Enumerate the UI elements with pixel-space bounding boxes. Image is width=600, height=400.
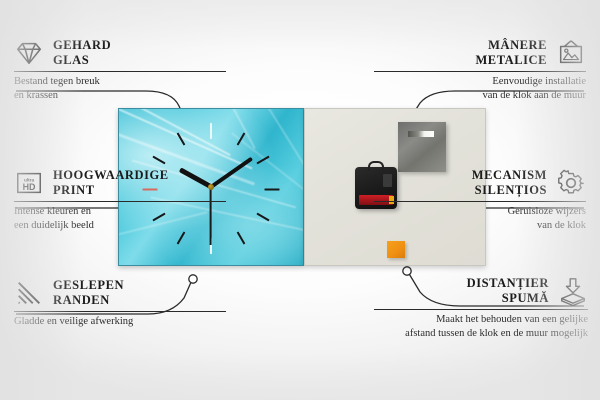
tick-1 <box>237 132 246 145</box>
tick-4 <box>256 213 269 222</box>
feature-description: Maakt het behouden van een gelijke afsta… <box>374 310 588 340</box>
feature-header: GESLEPEN RANDEN <box>14 278 226 310</box>
svg-text:HD: HD <box>23 182 36 192</box>
diamond-icon <box>14 38 44 68</box>
feature-description: Intense kleuren en een duidelijk beeld <box>14 202 226 232</box>
feature-title: MECANISM SILENȚIOS <box>472 168 547 198</box>
feature-header: GEHARD GLAS <box>14 38 226 70</box>
hanger-plate <box>398 122 446 172</box>
feature-title-line2: GLAS <box>53 53 111 68</box>
feature-description: Eenvoudige installatie van de klok aan d… <box>374 72 586 102</box>
feature-title-line1: GESLEPEN <box>53 278 124 293</box>
feature-title-line2: METALICE <box>475 53 547 68</box>
tick-11 <box>177 132 186 145</box>
tick-5 <box>237 231 246 244</box>
feature-title-line2: SPUMĂ <box>467 291 549 306</box>
feature-description: Bestand tegen breuk en krassen <box>14 72 226 102</box>
tick-12 <box>210 123 212 139</box>
product-infographic: GEHARD GLAS Bestand tegen breuk en krass… <box>0 0 600 400</box>
feature-title-line1: MÂNERE <box>475 38 547 53</box>
feature-geslepen-randen: GESLEPEN RANDEN Gladde en veilige afwerk… <box>14 278 226 329</box>
feature-title: GEHARD GLAS <box>53 38 111 68</box>
diagonal-lines-icon <box>14 278 44 308</box>
feature-title: HOOGWAARDIGE PRINT <box>53 168 169 198</box>
foam-spacer <box>387 241 405 258</box>
feature-title-line2: SILENȚIOS <box>472 183 547 198</box>
feature-description: Gladde en veilige afwerking <box>14 312 226 329</box>
feature-title-line1: MECANISM <box>472 168 547 183</box>
feature-mecanism-silentios: MECANISM SILENȚIOS Geruisloze wijzers va… <box>374 168 586 232</box>
feature-header: ultra HD HOOGWAARDIGE PRINT <box>14 168 226 200</box>
feature-header: DISTANȚIER SPUMĂ <box>374 276 588 308</box>
feature-title-line2: RANDEN <box>53 293 124 308</box>
tick-7 <box>177 231 186 244</box>
feature-title: DISTANȚIER SPUMĂ <box>467 276 549 306</box>
feature-title: MÂNERE METALICE <box>475 38 547 68</box>
feature-title: GESLEPEN RANDEN <box>53 278 124 308</box>
feature-gehard-glas: GEHARD GLAS Bestand tegen breuk en krass… <box>14 38 226 102</box>
gear-icon <box>556 168 586 198</box>
feature-hoogwaardige-print: ultra HD HOOGWAARDIGE PRINT Intense kleu… <box>14 168 226 232</box>
hanger-slot <box>408 131 434 137</box>
leader-endpoint-distantier-spuma <box>403 267 411 275</box>
arrow-down-pad-icon <box>558 276 588 306</box>
tick-10 <box>152 156 165 165</box>
tick-3 <box>265 189 280 191</box>
feature-description: Geruisloze wijzers van de klok <box>374 202 586 232</box>
feature-title-line1: DISTANȚIER <box>467 276 549 291</box>
feature-header: MECANISM SILENȚIOS <box>374 168 586 200</box>
picture-frame-icon <box>556 38 586 68</box>
ultra-hd-icon: ultra HD <box>14 168 44 198</box>
tick-2 <box>256 156 269 165</box>
feature-header: MÂNERE METALICE <box>374 38 586 70</box>
feature-title-line1: GEHARD <box>53 38 111 53</box>
feature-manere-metalice: MÂNERE METALICE Eenvoudige installatie v… <box>374 38 586 102</box>
feature-title-line2: PRINT <box>53 183 169 198</box>
feature-distantier-spuma: DISTANȚIER SPUMĂ Maakt het behouden van … <box>374 276 588 340</box>
feature-title-line1: HOOGWAARDIGE <box>53 168 169 183</box>
